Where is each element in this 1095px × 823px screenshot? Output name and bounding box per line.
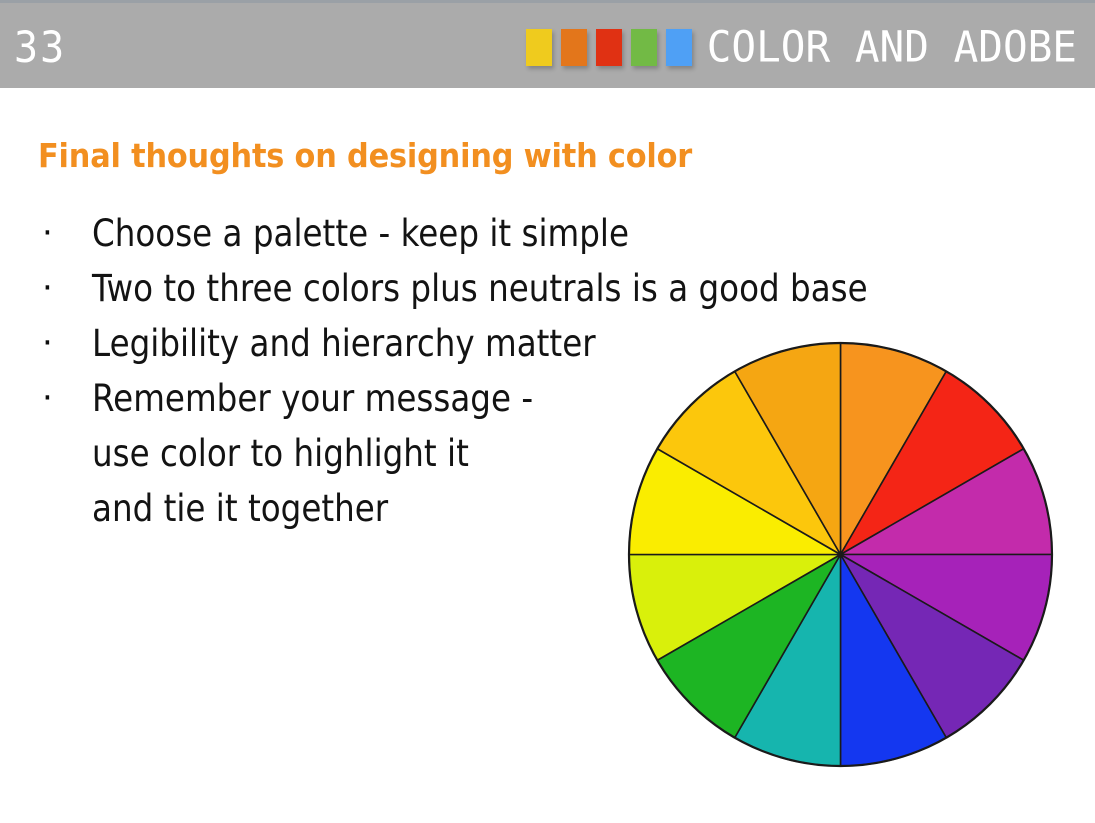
- bullet-marker-icon: ·: [36, 316, 92, 371]
- slide-heading: Final thoughts on designing with color: [38, 136, 692, 175]
- bullet-text: Choose a palette - keep it simple: [92, 206, 629, 261]
- swatch-orange: [561, 29, 587, 66]
- slide-number: 33: [14, 24, 66, 73]
- bullet-text: Remember your message -: [92, 371, 533, 426]
- swatch-red: [596, 29, 622, 66]
- bullet-marker-icon: ·: [36, 261, 92, 316]
- bullet-text: Two to three colors plus neutrals is a g…: [92, 261, 868, 316]
- swatch-yellow: [526, 29, 552, 66]
- bullet-item: ·Two to three colors plus neutrals is a …: [36, 261, 1046, 316]
- header-title: COLOR AND ADOBE: [707, 22, 1077, 72]
- bullet-text: Legibility and hierarchy matter: [92, 316, 596, 371]
- color-wheel: [627, 340, 1054, 769]
- slide-header-bar: 33 COLOR AND ADOBE: [0, 0, 1095, 88]
- header-swatch-strip: [526, 29, 701, 66]
- swatch-green: [631, 29, 657, 66]
- bullet-text: and tie it together: [92, 481, 388, 536]
- bullet-marker-icon: ·: [36, 206, 92, 261]
- bullet-marker-icon: ·: [36, 371, 92, 426]
- swatch-blue: [666, 29, 692, 66]
- header-right-group: COLOR AND ADOBE: [526, 21, 1077, 73]
- bullet-item: ·Choose a palette - keep it simple: [36, 206, 1046, 261]
- bullet-text: use color to highlight it: [92, 426, 469, 481]
